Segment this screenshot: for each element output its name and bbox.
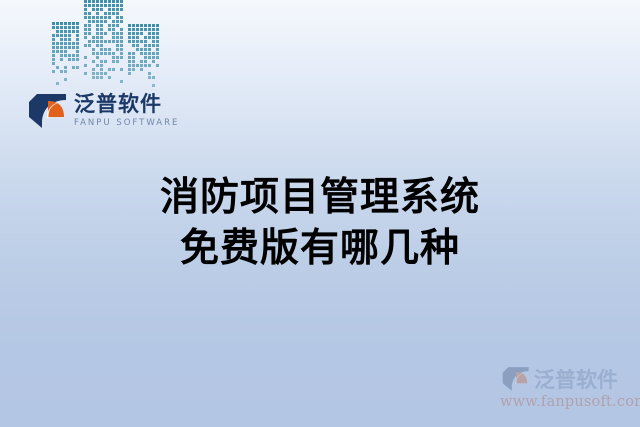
page-title: 消防项目管理系统 免费版有哪几种 [0, 172, 640, 275]
brand-logo: 泛普软件 FANPU SOFTWARE [26, 88, 186, 134]
watermark: 泛普软件 www.fanpusoft.com [500, 363, 632, 415]
page-title-line-1: 消防项目管理系统 [0, 172, 640, 223]
brand-wordmark: 泛普软件 FANPU SOFTWARE [74, 93, 179, 128]
watermark-url: www.fanpusoft.com [500, 394, 632, 410]
brand-name-en: FANPU SOFTWARE [74, 118, 179, 129]
brand-name-cn: 泛普软件 [74, 93, 179, 115]
watermark-name-cn: 泛普软件 [534, 364, 618, 394]
watermark-lockup: 泛普软件 [500, 363, 632, 395]
pixel-skyline-graphic [52, 0, 164, 88]
fanpu-hexagon-swoosh-icon [26, 91, 70, 131]
poster-canvas: 泛普软件 FANPU SOFTWARE 消防项目管理系统 免费版有哪几种 泛普软… [0, 0, 640, 427]
page-title-line-2: 免费版有哪几种 [0, 223, 640, 274]
fanpu-hexagon-swoosh-icon-watermark [500, 365, 532, 393]
